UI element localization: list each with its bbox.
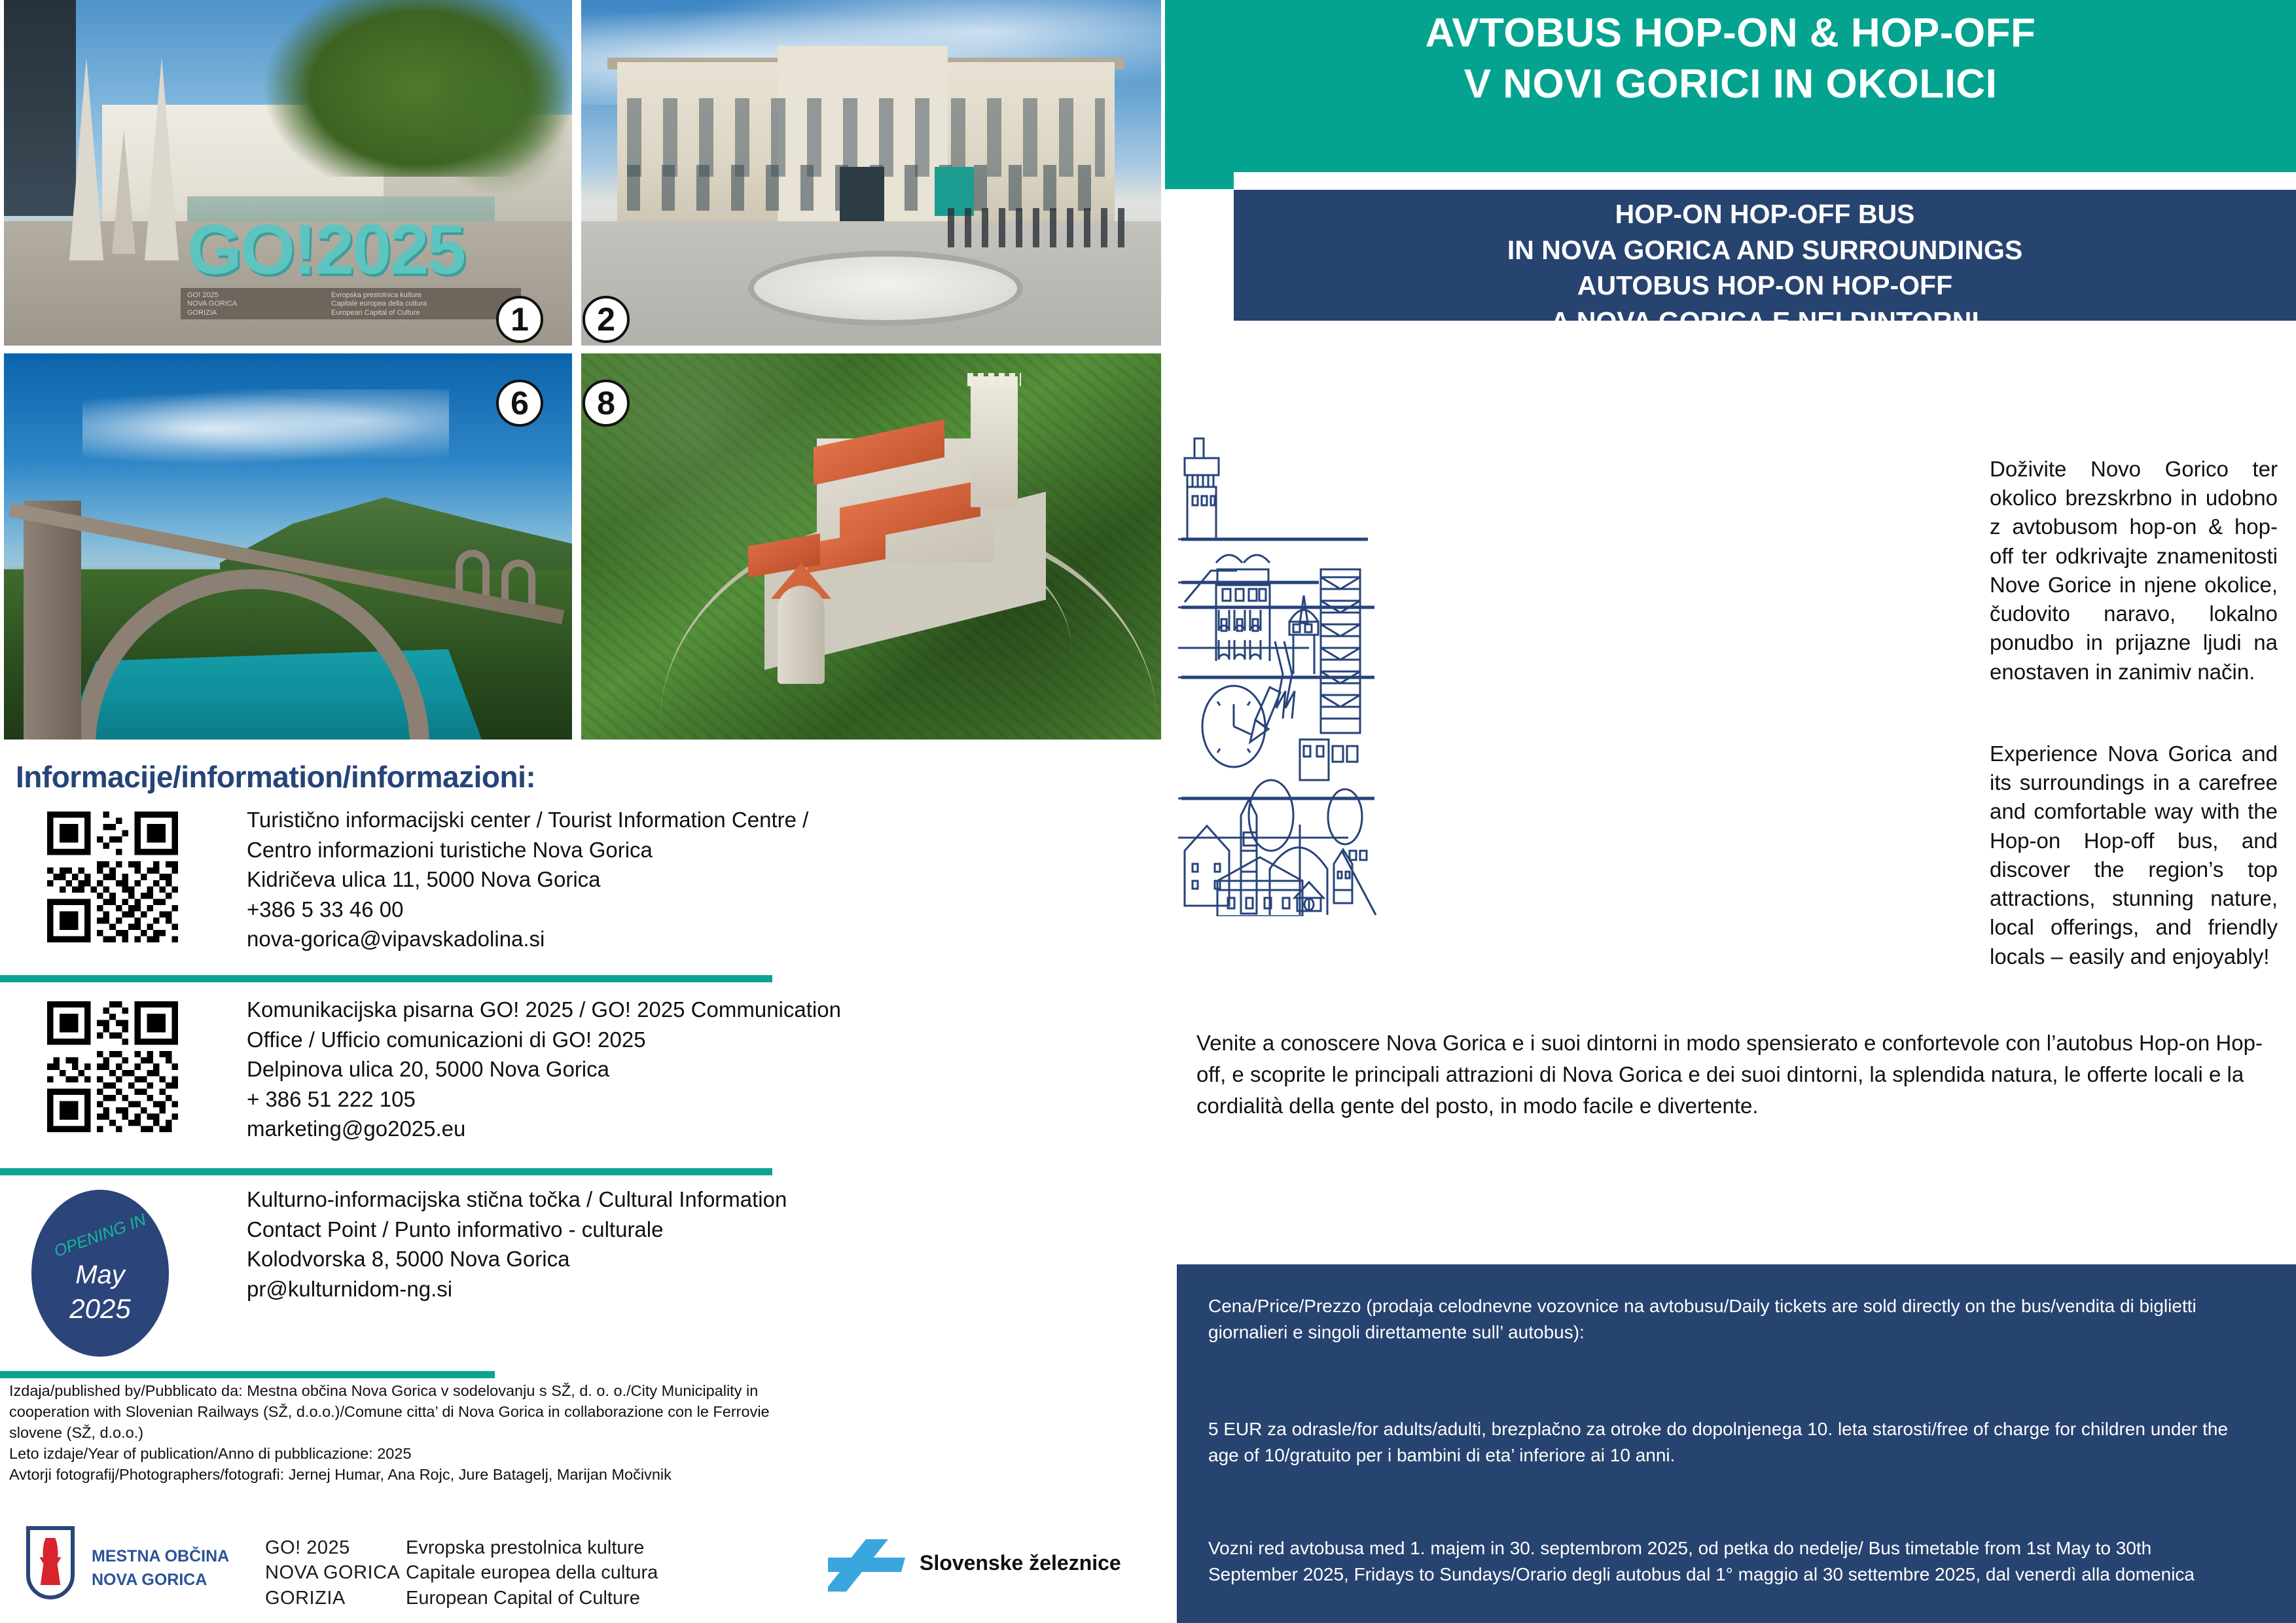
photo-collage: GO! 2025 NOVA GORICA GORIZIA Evropska pr… <box>4 0 1165 746</box>
price-paragraph-2: 5 EUR za odrasle/for adults/adulti, brez… <box>1208 1416 2242 1469</box>
photo-transalpina-square <box>581 0 1161 346</box>
header-teal-tail <box>1165 172 1234 189</box>
clouds <box>82 389 449 468</box>
sculpture-spike-a <box>69 58 103 260</box>
station-entrance <box>840 167 884 226</box>
paragraph-italian: Venite a conoscere Nova Gorica e i suoi … <box>1196 1027 2263 1122</box>
round-tower <box>778 586 825 684</box>
plinth-text-left: GO! 2025 NOVA GORICA GORIZIA <box>187 291 237 317</box>
castle-battlements <box>967 373 1021 386</box>
contact-text-cultural-information-point: Kulturno-informacijska stična točka / Cu… <box>247 1185 1163 1304</box>
mosaic-circle <box>748 251 1023 326</box>
paragraph-slovenian: Doživite Novo Gorico ter okolico brezskr… <box>1990 455 2278 687</box>
price-paragraph-3: Vozni red avtobusa med 1. majem in 30. s… <box>1208 1535 2242 1588</box>
go2025-sign-text: GO!2025 <box>187 208 464 290</box>
contact-text-go2025-communication-office: Komunikacijska pisarna GO! 2025 / GO! 20… <box>247 995 1163 1144</box>
opening-badge-month: May <box>31 1260 169 1290</box>
price-and-timetable-box: Cena/Price/Prezzo (prodaja celodnevne vo… <box>1177 1264 2296 1623</box>
rose-icon <box>38 1538 63 1585</box>
qr-code-go2025-communication-office[interactable] <box>47 1001 178 1132</box>
page-subtitle: HOP-ON HOP-OFF BUS IN NOVA GORICA AND SU… <box>1234 196 2296 339</box>
opening-soon-badge: OPENING IN May 2025 <box>31 1190 169 1357</box>
european-capital-of-culture-text: Evropska prestolnica kulture Capitale eu… <box>406 1535 658 1611</box>
left-column: GO! 2025 NOVA GORICA GORIZIA Evropska pr… <box>0 0 1165 1623</box>
photo-rihemberk-castle <box>581 353 1161 740</box>
opening-badge-label: OPENING IN <box>40 1206 161 1266</box>
plinth-text-right: Evropska prestolnica kulture Capitale eu… <box>331 291 427 317</box>
nova-gorica-skyline-illustration <box>1178 432 1630 916</box>
section-divider-3 <box>0 1371 495 1378</box>
opening-badge-year: 2025 <box>31 1293 169 1325</box>
qr-code-tourist-information-centre[interactable] <box>47 811 178 942</box>
photo-solkan-bridge <box>4 353 572 740</box>
paragraph-english: Experience Nova Gorica and its surroundi… <box>1990 740 2278 971</box>
castle-keep-tower <box>971 376 1018 507</box>
section-divider-2 <box>0 1168 772 1175</box>
photo-badge-6: 6 <box>496 380 543 427</box>
people-group <box>948 208 1131 247</box>
go2025-logo-text: GO! 2025 NOVA GORICA GORIZIA <box>265 1535 400 1611</box>
page-title: AVTOBUS HOP-ON & HOP-OFF V NOVI GORICI I… <box>1165 8 2296 109</box>
photo-badge-1: 1 <box>496 296 543 343</box>
price-paragraph-1: Cena/Price/Prezzo (prodaja celodnevne vo… <box>1208 1293 2242 1346</box>
bridge-pier <box>24 501 81 740</box>
tree-canopy-right <box>423 26 572 196</box>
sculpture-spike-c <box>112 130 135 254</box>
slovenian-railways-logo-icon <box>828 1539 905 1592</box>
slovenian-railways-name: Slovenske železnice <box>920 1551 1121 1575</box>
glass-tower <box>4 0 76 216</box>
footer-logo-row: MESTNA OBČINA NOVA GORICA GO! 2025 NOVA … <box>13 1525 1165 1610</box>
photo-go2025-square: GO! 2025 NOVA GORICA GORIZIA Evropska pr… <box>4 0 572 346</box>
right-column: AVTOBUS HOP-ON & HOP-OFF V NOVI GORICI I… <box>1165 0 2296 1623</box>
photo-badge-8: 8 <box>583 380 630 427</box>
photo-badge-2: 2 <box>583 296 630 343</box>
contact-text-tourist-information-centre: Turistično informacijski center / Touris… <box>247 805 1163 954</box>
info-section-heading: Informacije/information/informazioni: <box>16 759 535 794</box>
sculpture-spike-b <box>145 58 179 260</box>
small-arch-1 <box>456 550 490 596</box>
section-divider-1 <box>0 975 772 982</box>
publisher-credits: Izdaja/published by/Pubblicato da: Mestn… <box>9 1381 1115 1486</box>
sign-plinth: GO! 2025 NOVA GORICA GORIZIA Evropska pr… <box>181 288 521 319</box>
nova-gorica-coat-of-arms-icon <box>26 1526 75 1599</box>
municipality-logo-text: MESTNA OBČINA NOVA GORICA <box>92 1544 229 1592</box>
